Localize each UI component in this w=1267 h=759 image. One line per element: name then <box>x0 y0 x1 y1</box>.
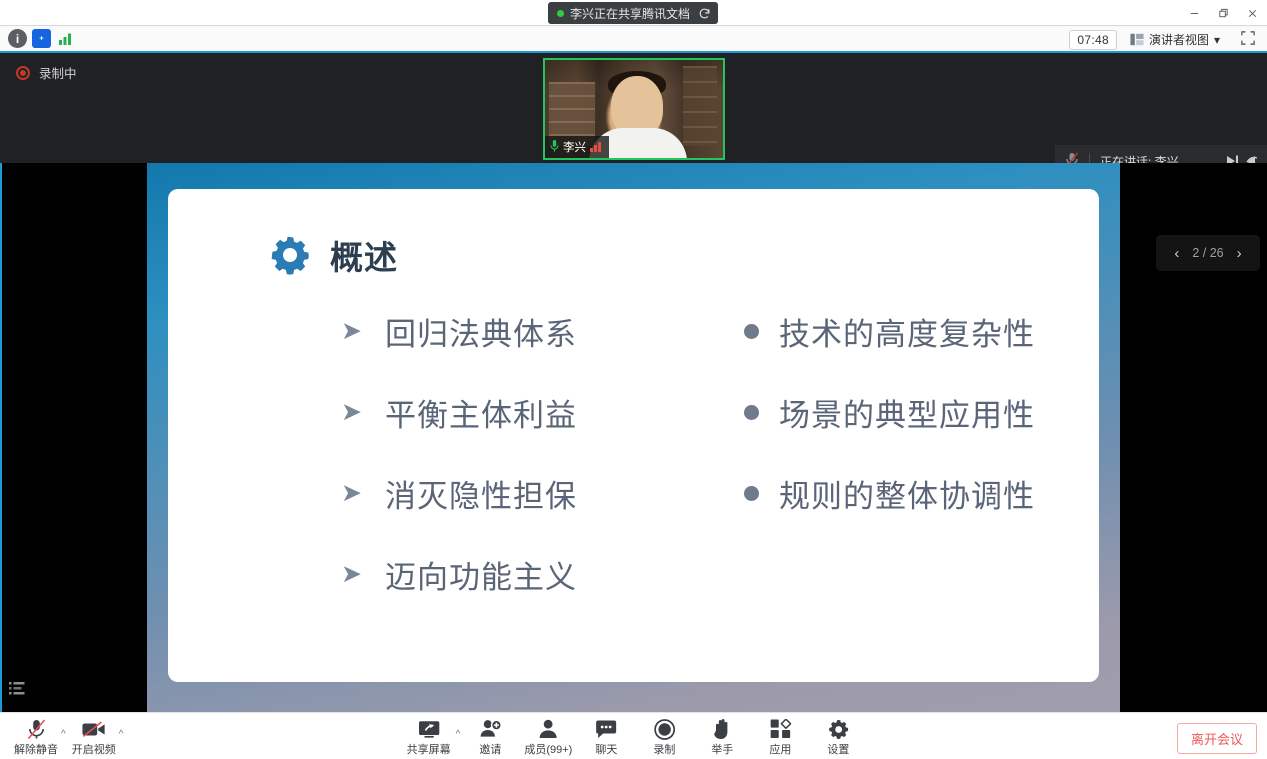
toolbar-right-group: 07:48 演讲者视图 ▾ <box>1069 26 1263 53</box>
list-item: ➤ 消灭隐性担保 <box>341 471 696 516</box>
layout-icon <box>1130 33 1144 46</box>
audio-video-controls: 解除静音 ^ 开启视频 ^ <box>8 715 123 757</box>
video-background-shelf-right <box>683 66 717 146</box>
prev-slide-button[interactable]: ‹ <box>1174 245 1179 262</box>
record-dot-icon <box>16 66 30 80</box>
bullet-text: 场景的典型应用性 <box>779 390 1035 435</box>
close-button[interactable] <box>1238 0 1267 26</box>
slide-columns: ➤ 回归法典体系 ➤ 平衡主体利益 ➤ 消灭隐性担保 <box>168 309 1099 597</box>
dot-bullet-icon <box>744 405 759 420</box>
invite-label: 邀请 <box>479 741 501 757</box>
participants-label: 成员(99+) <box>524 741 572 757</box>
participants-button[interactable]: 成员(99+) <box>520 715 576 757</box>
meeting-clock: 07:48 <box>1069 30 1117 50</box>
recording-indicator: 录制中 <box>16 63 77 82</box>
slide-right-column: 技术的高度复杂性 场景的典型应用性 规则的整体协调性 <box>696 309 1099 597</box>
slide-pager: ‹ 2 / 26 › <box>1156 235 1260 271</box>
fullscreen-icon[interactable] <box>1233 29 1263 50</box>
apps-icon <box>770 718 791 740</box>
share-options-caret[interactable]: ^ <box>456 715 461 740</box>
recording-label: 录制中 <box>39 63 77 82</box>
list-item: ➤ 平衡主体利益 <box>341 390 696 435</box>
view-mode-label: 演讲者视图 <box>1149 31 1209 48</box>
video-options-caret[interactable]: ^ <box>119 715 124 740</box>
record-label: 录制 <box>653 741 675 757</box>
next-slide-button[interactable]: › <box>1237 245 1242 262</box>
raise-hand-button[interactable]: 举手 <box>694 715 750 757</box>
chevron-down-icon: ▾ <box>1214 33 1220 47</box>
window-controls <box>1180 0 1267 26</box>
page-title: 概述 <box>330 231 398 279</box>
settings-label: 设置 <box>827 741 849 757</box>
secondary-toolbar: i 07:48 演讲者视图 ▾ <box>0 26 1267 53</box>
arrow-bullet-icon: ➤ <box>341 319 369 344</box>
title-bar: 李兴正在共享腾讯文档 <box>0 0 1267 26</box>
chat-icon <box>595 718 617 740</box>
meeting-window: 李兴正在共享腾讯文档 i <box>0 0 1267 759</box>
view-mode-selector[interactable]: 演讲者视图 ▾ <box>1124 29 1226 50</box>
invite-button[interactable]: 邀请 <box>462 715 518 757</box>
stage-left-accent <box>0 163 2 712</box>
list-icon[interactable] <box>4 675 30 701</box>
chat-button[interactable]: 聊天 <box>578 715 634 757</box>
arrow-bullet-icon: ➤ <box>341 481 369 506</box>
signal-bars-icon <box>590 142 601 152</box>
start-video-button[interactable]: 开启视频 <box>66 715 122 757</box>
slide-card: 概述 ➤ 回归法典体系 ➤ 平衡主体利益 <box>168 189 1099 682</box>
raise-hand-label: 举手 <box>711 741 733 757</box>
slide-title-group: 概述 <box>268 231 398 279</box>
slide-counter: 2 / 26 <box>1192 246 1223 260</box>
window-title: 李兴正在共享腾讯文档 <box>570 5 690 22</box>
chat-label: 聊天 <box>595 741 617 757</box>
signal-bars-icon[interactable] <box>56 29 75 48</box>
microphone-icon <box>550 140 559 155</box>
leave-meeting-button[interactable]: 离开会议 <box>1177 723 1257 754</box>
slide-left-column: ➤ 回归法典体系 ➤ 平衡主体利益 ➤ 消灭隐性担保 <box>168 309 696 597</box>
bullet-text: 规则的整体协调性 <box>779 471 1035 516</box>
dot-bullet-icon <box>744 486 759 501</box>
arrow-bullet-icon: ➤ <box>341 562 369 587</box>
record-icon <box>654 718 675 740</box>
meeting-controls-bar: 解除静音 ^ 开启视频 ^ <box>0 712 1267 759</box>
arrow-bullet-icon: ➤ <box>341 400 369 425</box>
sharing-title-pill[interactable]: 李兴正在共享腾讯文档 <box>548 2 700 24</box>
raise-hand-icon <box>713 718 732 740</box>
video-off-icon <box>82 718 106 740</box>
refresh-icon[interactable] <box>690 2 718 24</box>
video-participant-name: 李兴 <box>563 139 586 155</box>
list-item: 规则的整体协调性 <box>744 471 1099 516</box>
bullet-text: 平衡主体利益 <box>385 390 577 435</box>
gear-icon <box>268 233 312 277</box>
shared-content-stage: 概述 ➤ 回归法典体系 ➤ 平衡主体利益 <box>0 163 1267 712</box>
shield-icon[interactable] <box>32 29 51 48</box>
bullet-text: 消灭隐性担保 <box>385 471 577 516</box>
meeting-body: 录制中 李兴 <box>0 53 1267 712</box>
bullet-text: 回归法典体系 <box>385 309 577 354</box>
record-button[interactable]: 录制 <box>636 715 692 757</box>
invite-icon <box>479 718 502 740</box>
unmute-label: 解除静音 <box>14 741 58 757</box>
start-video-label: 开启视频 <box>72 741 116 757</box>
toolbar-status-icons: i <box>0 29 75 48</box>
video-name-badge: 李兴 <box>545 136 609 158</box>
screen-share-icon <box>417 718 441 740</box>
info-icon[interactable]: i <box>8 29 27 48</box>
settings-button[interactable]: 设置 <box>810 715 866 757</box>
list-item: ➤ 迈向功能主义 <box>341 552 696 597</box>
list-item: 场景的典型应用性 <box>744 390 1099 435</box>
share-screen-label: 共享屏幕 <box>407 741 451 757</box>
participant-video-tile[interactable]: 李兴 <box>543 58 725 160</box>
presentation-slide[interactable]: 概述 ➤ 回归法典体系 ➤ 平衡主体利益 <box>147 163 1120 712</box>
settings-gear-icon <box>828 718 849 740</box>
apps-label: 应用 <box>769 741 791 757</box>
sharing-status-dot <box>557 10 564 17</box>
apps-button[interactable]: 应用 <box>752 715 808 757</box>
restore-button[interactable] <box>1209 0 1238 26</box>
dot-bullet-icon <box>744 324 759 339</box>
unmute-button[interactable]: 解除静音 <box>8 715 64 757</box>
share-screen-button[interactable]: 共享屏幕 <box>401 715 457 757</box>
list-item: 技术的高度复杂性 <box>744 309 1099 354</box>
bullet-text: 技术的高度复杂性 <box>779 309 1035 354</box>
bullet-text: 迈向功能主义 <box>385 552 577 597</box>
list-item: ➤ 回归法典体系 <box>341 309 696 354</box>
main-controls: 共享屏幕 ^ 邀请 <box>401 715 867 757</box>
video-strip: 录制中 李兴 <box>0 53 1267 163</box>
minimize-button[interactable] <box>1180 0 1209 26</box>
microphone-muted-icon <box>27 718 46 740</box>
participants-icon <box>537 718 559 740</box>
